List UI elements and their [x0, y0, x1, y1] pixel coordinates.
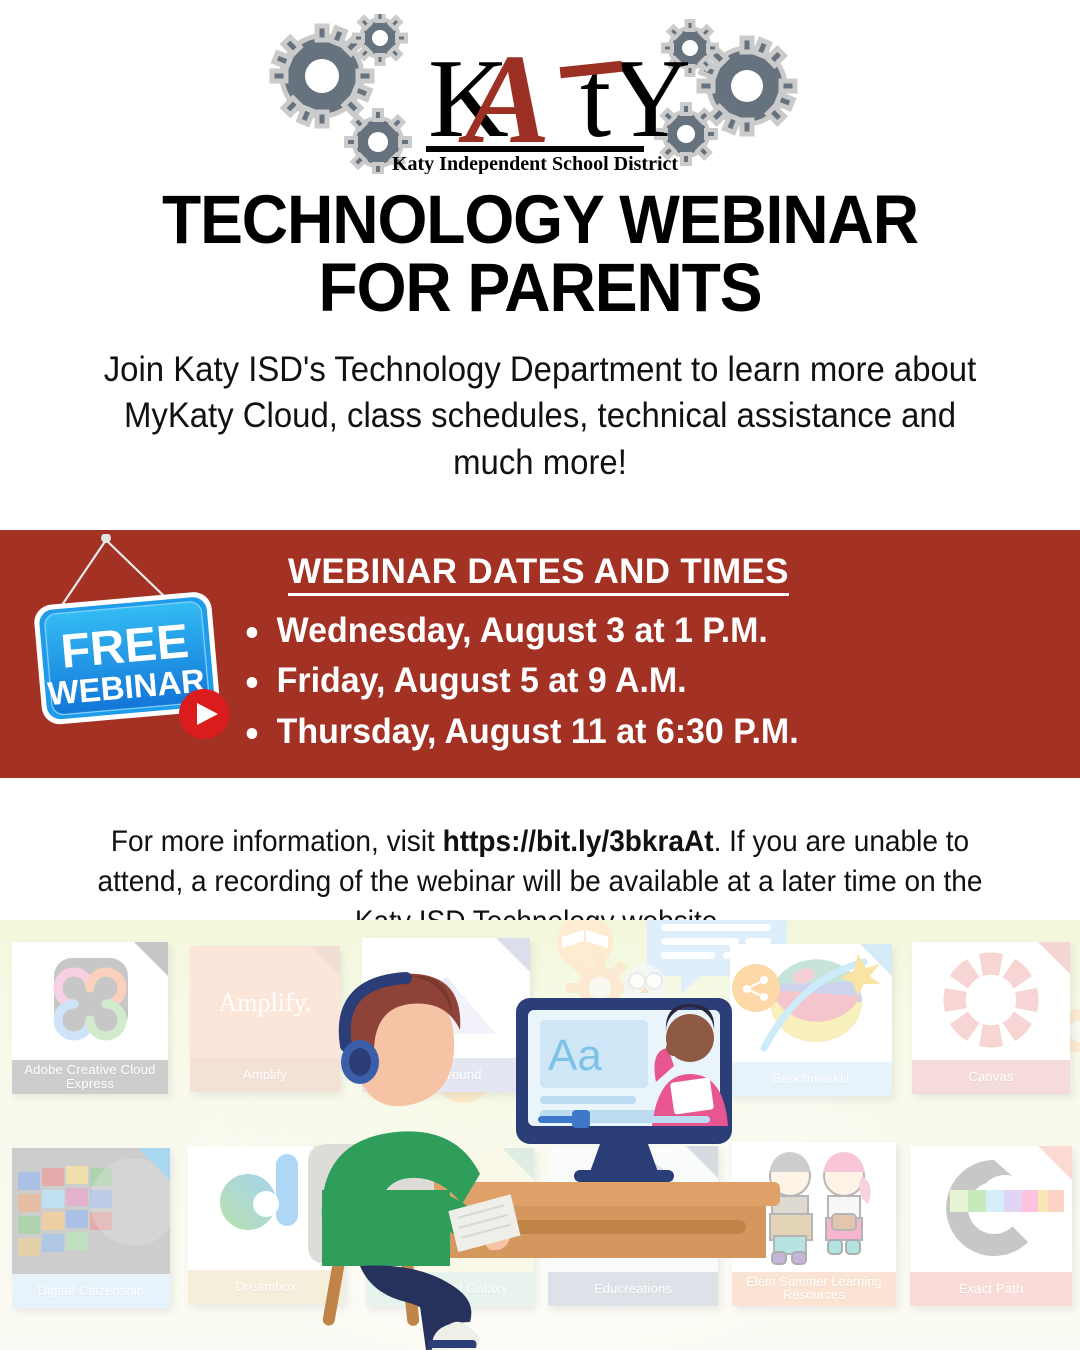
tile-label: Adobe Creative Cloud Express: [12, 1060, 168, 1094]
logo-wordmark-y: Y: [610, 37, 691, 161]
student-illustration: [322, 974, 522, 1350]
monitor-icon: Aa: [516, 998, 732, 1182]
list-item: Friday, August 5 at 9 A.M.: [233, 656, 1048, 706]
play-button-icon[interactable]: [179, 689, 229, 739]
illustration-banner: Adobe Creative Cloud Express Amplify. Am…: [0, 920, 1080, 1350]
tile-label: Exact Path: [910, 1272, 1072, 1306]
webinar-dates-banner: FREE WEBINAR WEBINAR DATES AND TIMES Wed…: [0, 530, 1080, 778]
screen-letters: Aa: [548, 1031, 602, 1080]
logo-underline: [426, 146, 644, 152]
tile-label: Digital Citizenship: [12, 1274, 170, 1308]
page-subtitle: Join Katy ISD's Technology Department to…: [98, 347, 982, 486]
app-tile-canvas[interactable]: Canvas: [912, 942, 1070, 1094]
webinar-scene-illustration: Aa: [300, 920, 780, 1350]
poster-root: K t Y A Katy Independent School District…: [0, 0, 1080, 1350]
app-tile-digital-citizenship[interactable]: Digital Citizenship: [12, 1148, 170, 1308]
free-webinar-sign: FREE WEBINAR: [18, 534, 248, 778]
tile-face: [912, 942, 1070, 1060]
free-webinar-sign-graphic: FREE WEBINAR: [18, 534, 248, 778]
app-tile-exact-path[interactable]: Exact Path: [910, 1146, 1072, 1306]
tile-corner-fold: [860, 944, 892, 976]
logo-header: K t Y A Katy Independent School District: [0, 0, 1080, 180]
tile-face: [12, 1148, 170, 1274]
page-title-line2: FOR PARENTS: [38, 254, 1042, 322]
footer-prefix: For more information, visit: [111, 825, 443, 858]
banner-content: WEBINAR DATES AND TIMES Wednesday, Augus…: [233, 552, 1073, 757]
tile-face: [12, 942, 168, 1060]
page-title: TECHNOLOGY WEBINAR FOR PARENTS: [38, 186, 1042, 321]
tile-corner-fold: [1038, 942, 1070, 974]
tile-corner-fold: [138, 1148, 170, 1180]
footer-url[interactable]: https://bit.ly/3bkraAt: [443, 825, 714, 858]
list-item: Thursday, August 11 at 6:30 P.M.: [233, 707, 1048, 757]
webinar-session-list: Wednesday, August 3 at 1 P.M. Friday, Au…: [233, 606, 1073, 757]
sign-string-left: [60, 540, 106, 608]
sign-string-right: [106, 540, 166, 598]
list-item: Wednesday, August 3 at 1 P.M.: [233, 606, 1048, 656]
page-title-line1: TECHNOLOGY WEBINAR: [162, 181, 918, 258]
tile-corner-fold: [1038, 1146, 1072, 1180]
tile-corner-fold: [134, 942, 168, 976]
logo-wordmark-t: t: [580, 37, 611, 161]
tile-label: Canvas: [912, 1060, 1070, 1094]
tile-face: [910, 1146, 1072, 1272]
app-tile-adobe-express[interactable]: Adobe Creative Cloud Express: [12, 942, 168, 1094]
banner-heading: WEBINAR DATES AND TIMES: [288, 552, 789, 596]
logo-tagline: Katy Independent School District: [392, 153, 678, 174]
katy-isd-logo: K t Y A Katy Independent School District: [260, 14, 820, 174]
